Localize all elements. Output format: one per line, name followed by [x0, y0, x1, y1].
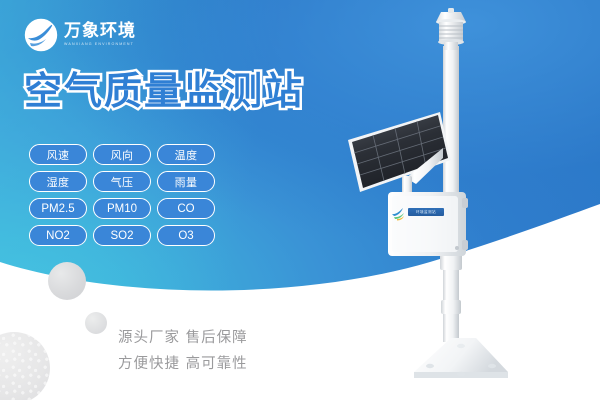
parameter-tag-grid: 风速 风向 温度 湿度 气压 雨量 PM2.5 PM10 CO NO2 SO2 …: [29, 144, 215, 246]
slogan-line-2: 方便快捷 高可靠性: [118, 351, 248, 377]
tag-item[interactable]: 气压: [93, 171, 151, 192]
brand-logo: 万象环境 WANXIANG ENVIRONMENT: [24, 18, 136, 52]
tag-item[interactable]: O3: [157, 225, 215, 246]
enclosure-logo-icon: [391, 205, 408, 222]
decorative-sphere-textured: [0, 332, 50, 400]
brand-name-en: WANXIANG ENVIRONMENT: [64, 43, 136, 47]
brand-name-cn: 万象环境: [64, 23, 136, 40]
tag-item[interactable]: PM2.5: [29, 198, 87, 219]
slogan-block: 源头厂家 售后保障 方便快捷 高可靠性: [118, 325, 248, 377]
tag-item[interactable]: 湿度: [29, 171, 87, 192]
tag-item[interactable]: NO2: [29, 225, 87, 246]
tag-item[interactable]: 风向: [93, 144, 151, 165]
tag-item[interactable]: 风速: [29, 144, 87, 165]
globe-swoosh-logo-icon: [24, 18, 58, 52]
tag-item[interactable]: CO: [157, 198, 215, 219]
banner-canvas: 万象环境 WANXIANG ENVIRONMENT 空气质量监测站 风速 风向 …: [0, 0, 600, 400]
decorative-sphere-large: [48, 262, 86, 300]
tag-item[interactable]: 温度: [157, 144, 215, 165]
slogan-line-1: 源头厂家 售后保障: [118, 325, 248, 351]
page-title: 空气质量监测站: [24, 72, 304, 110]
tag-item[interactable]: PM10: [93, 198, 151, 219]
monitoring-station-image: [330, 0, 600, 400]
tag-item[interactable]: SO2: [93, 225, 151, 246]
control-enclosure: [388, 192, 468, 256]
tag-item[interactable]: 雨量: [157, 171, 215, 192]
enclosure-label: 环境监测站: [408, 208, 444, 216]
base-plate: [414, 338, 508, 378]
ultrasonic-weather-sensor-head: [436, 8, 466, 50]
decorative-sphere-small: [85, 312, 107, 334]
